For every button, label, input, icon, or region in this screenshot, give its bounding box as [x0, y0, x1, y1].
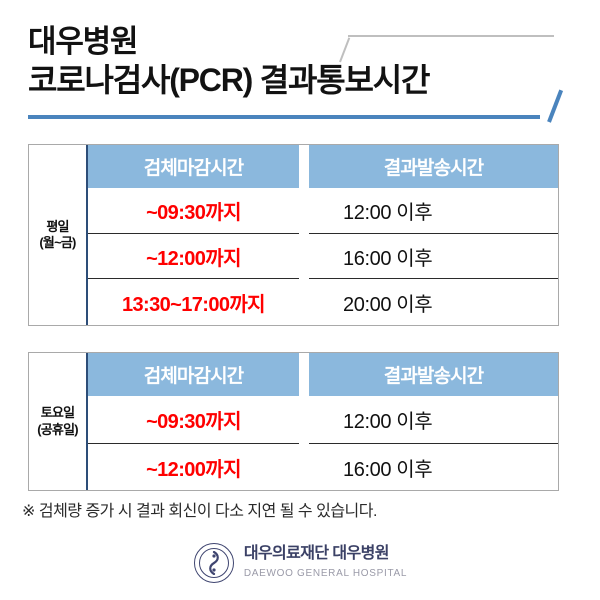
cell-collection-deadline: ~09:30까지 [88, 188, 299, 233]
day-label-cell-weekday: 평일 (월~금) [29, 145, 88, 325]
footer-logo-block: 대우의료재단 대우병원 DAEWOO GENERAL HOSPITAL [0, 542, 600, 584]
cell-collection-deadline: ~12:00까지 [88, 233, 299, 278]
footer-logo-text: 대우의료재단 대우병원 DAEWOO GENERAL HOSPITAL [244, 545, 407, 580]
column-header-collection-deadline: 검체마감시간 [88, 145, 299, 188]
table-weekday-columns: 검체마감시간 결과발송시간 ~09:30까지 12:00 이후 ~12:00까지… [88, 145, 558, 325]
table-saturday-body-wrap: 토요일 (공휴일) 검체마감시간 결과발송시간 ~09:30까지 12:00 이… [29, 353, 558, 490]
hospital-name-korean: 대우의료재단 대우병원 [244, 545, 407, 563]
infographic-page: 대우병원 코로나검사(PCR) 결과통보시간 평일 (월~금) 검체마감시간 결… [0, 0, 600, 600]
table-row: 13:30~17:00까지 20:00 이후 [88, 278, 558, 325]
day-label-line-1: 평일 [46, 219, 68, 235]
cell-collection-deadline: 13:30~17:00까지 [88, 278, 299, 325]
header-gap [299, 145, 309, 188]
hospital-name-english: DAEWOO GENERAL HOSPITAL [244, 566, 407, 581]
page-title-line-1: 대우병원 [28, 26, 137, 57]
cell-gap [299, 278, 309, 325]
accent-blue-diagonal-line [547, 90, 563, 123]
table-weekday-header-row: 검체마감시간 결과발송시간 [88, 145, 558, 188]
footnote-text: ※ 검체량 증가 시 결과 회신이 다소 지연 될 수 있습니다. [22, 497, 377, 521]
table-saturday-columns: 검체마감시간 결과발송시간 ~09:30까지 12:00 이후 ~12:00까지… [88, 353, 558, 490]
cell-gap [299, 233, 309, 278]
cell-result-time: 16:00 이후 [309, 233, 558, 278]
schedule-table-saturday: 토요일 (공휴일) 검체마감시간 결과발송시간 ~09:30까지 12:00 이… [28, 352, 559, 491]
schedule-table-weekday: 평일 (월~금) 검체마감시간 결과발송시간 ~09:30까지 12:00 이후… [28, 144, 559, 326]
cell-result-time: 12:00 이후 [309, 396, 558, 443]
table-row: ~12:00까지 16:00 이후 [88, 233, 558, 278]
table-row: ~09:30까지 12:00 이후 [88, 396, 558, 443]
cell-result-time: 16:00 이후 [309, 443, 558, 490]
cell-collection-deadline: ~09:30까지 [88, 396, 299, 443]
header-gap [299, 353, 309, 396]
cell-gap [299, 188, 309, 233]
page-title-line-2: 코로나검사(PCR) 결과통보시간 [28, 64, 429, 96]
column-header-collection-deadline: 검체마감시간 [88, 353, 299, 396]
cell-collection-deadline: ~12:00까지 [88, 443, 299, 490]
cell-result-time: 12:00 이후 [309, 188, 558, 233]
table-row: ~12:00까지 16:00 이후 [88, 443, 558, 490]
cell-gap [299, 443, 309, 490]
day-label-line-2: (월~금) [39, 235, 75, 251]
day-label-line-1: 토요일 [41, 405, 74, 421]
column-header-result-time: 결과발송시간 [309, 353, 558, 396]
table-weekday-body-wrap: 평일 (월~금) 검체마감시간 결과발송시간 ~09:30까지 12:00 이후… [29, 145, 558, 325]
accent-blue-underline [28, 115, 540, 119]
hospital-seal-icon [193, 542, 235, 584]
table-row: ~09:30까지 12:00 이후 [88, 188, 558, 233]
cell-result-time: 20:00 이후 [309, 278, 558, 325]
day-label-cell-saturday: 토요일 (공휴일) [29, 353, 88, 490]
accent-gray-horizontal-line [348, 35, 554, 37]
column-header-result-time: 결과발송시간 [309, 145, 558, 188]
seal-symbol-icon [206, 551, 222, 575]
day-label-line-2: (공휴일) [37, 422, 78, 438]
accent-gray-diagonal-line [339, 37, 350, 62]
table-saturday-header-row: 검체마감시간 결과발송시간 [88, 353, 558, 396]
cell-gap [299, 396, 309, 443]
title-block: 대우병원 코로나검사(PCR) 결과통보시간 [28, 22, 572, 122]
